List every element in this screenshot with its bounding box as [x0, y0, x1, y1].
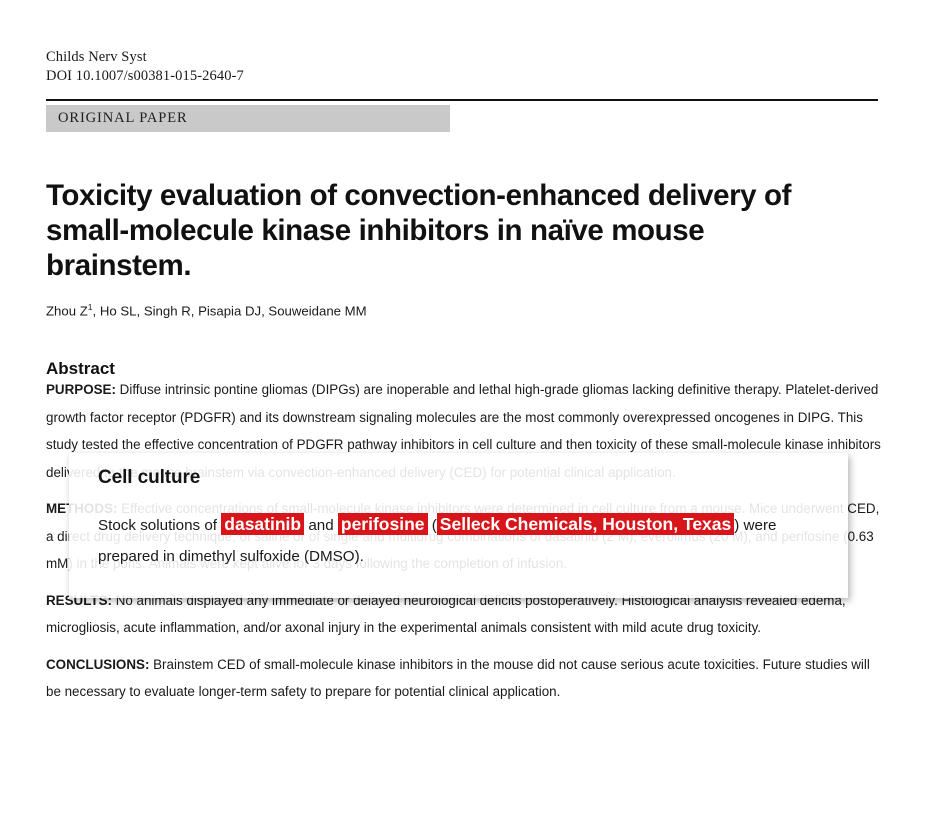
popup-body-text: Stock solutions of dasatinib and perifos…	[98, 510, 833, 572]
highlight-term-supplier[interactable]: Selleck Chemicals, Houston, Texas	[437, 513, 734, 535]
page-title: Toxicity evaluation of convection-enhanc…	[46, 178, 856, 283]
header-divider-rule	[46, 99, 878, 101]
abstract-section-conclusions: CONCLUSIONS: Brainstem CED of small-mole…	[46, 651, 884, 706]
author-list-pre: Zhou Z	[46, 303, 88, 318]
highlight-term-perifosine[interactable]: perifosine	[338, 513, 428, 535]
highlight-term-dasatinib[interactable]: dasatinib	[221, 513, 304, 535]
popup-title: Cell culture	[98, 467, 200, 489]
journal-header: Childs Nerv Syst DOI 10.1007/s00381-015-…	[46, 48, 244, 86]
cell-culture-popup-card[interactable]: Cell culture Stock solutions of dasatini…	[69, 453, 848, 598]
popup-segment-plain: (	[428, 517, 437, 534]
paper-type-label: ORIGINAL PAPER	[46, 110, 188, 127]
journal-name: Childs Nerv Syst	[46, 48, 244, 67]
popup-segment-plain: Stock solutions of	[98, 517, 221, 534]
popup-segment-plain: and	[304, 517, 338, 534]
abstract-section-label: CONCLUSIONS:	[46, 657, 149, 672]
abstract-section-text: Brainstem CED of small-molecule kinase i…	[46, 657, 870, 700]
author-list: Zhou Z1, Ho SL, Singh R, Pisapia DJ, Sou…	[46, 302, 367, 318]
paper-type-banner: ORIGINAL PAPER	[46, 105, 450, 132]
abstract-section-text: No animals displayed any immediate or de…	[46, 593, 846, 636]
abstract-section-label: PURPOSE:	[46, 382, 116, 397]
document-page: Childs Nerv Syst DOI 10.1007/s00381-015-…	[0, 0, 930, 825]
author-list-post: , Ho SL, Singh R, Pisapia DJ, Souweidane…	[93, 303, 367, 318]
journal-doi: DOI 10.1007/s00381-015-2640-7	[46, 67, 244, 86]
